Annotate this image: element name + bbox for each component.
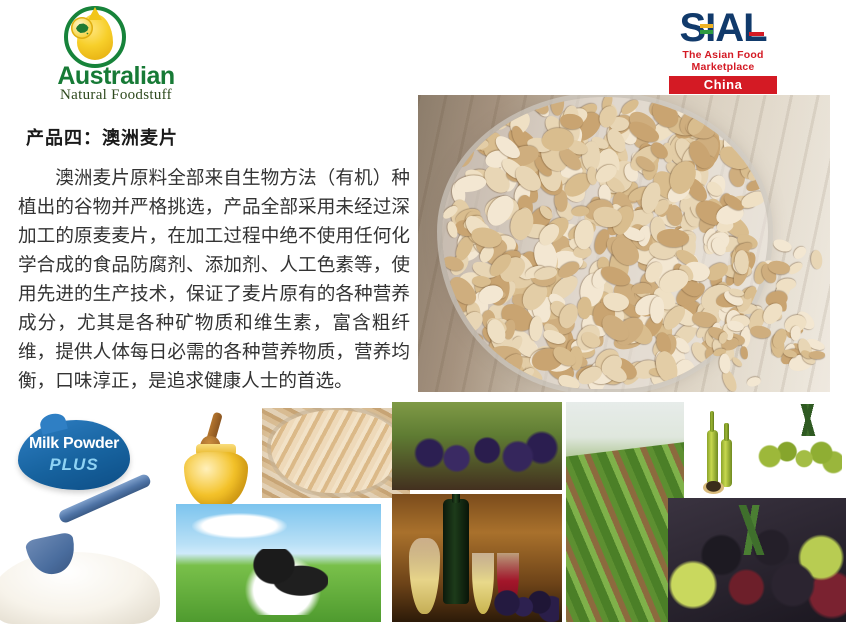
tile-milk-powder-scoop xyxy=(0,506,170,624)
sial-china-logo: SIAL The Asian Food Marketplace China xyxy=(652,8,794,80)
brand-tagline: Natural Foodstuff xyxy=(16,88,216,103)
australia-droplet-icon xyxy=(64,6,126,68)
product-description: 澳洲麦片原料全部来自生物方法（有机）种植出的谷物并严格挑选，产品全部采用未经过深… xyxy=(18,164,410,396)
honey-jar-body xyxy=(184,452,248,508)
olive-oil-bottle-short xyxy=(721,439,732,487)
milk-powder-logo-line1: Milk Powder xyxy=(18,436,130,452)
wine-carafe xyxy=(409,538,440,615)
tile-olive-oil-bottles xyxy=(688,406,750,498)
tile-honey-jar xyxy=(178,416,254,512)
dark-grapes-cluster xyxy=(494,584,559,622)
product-copy: 产品四：澳洲麦片 澳洲麦片原料全部来自生物方法（有机）种植出的谷物并严格挑选，产… xyxy=(18,128,410,396)
tile-dairy-cows xyxy=(176,504,381,622)
company-logo: Australian Natural Foodstuff xyxy=(16,4,216,104)
tile-wine-bottle-glasses xyxy=(392,494,562,622)
sial-accent-yellow-icon xyxy=(700,24,713,28)
tile-wine-grapes-vine xyxy=(392,402,562,490)
tile-green-olives xyxy=(752,402,846,496)
sial-accent-green-icon xyxy=(700,30,713,34)
sial-wordmark: SIAL xyxy=(652,8,794,48)
wine-bottle xyxy=(443,499,469,604)
olive-dish xyxy=(703,481,724,494)
sial-wordmark-text: SIAL xyxy=(679,6,766,50)
hero-image-oats-bowl xyxy=(418,95,830,392)
tile-vineyard-rows xyxy=(566,402,684,622)
tile-oats-bowl xyxy=(262,408,410,498)
sial-tagline: The Asian Food Marketplace xyxy=(652,49,794,73)
milk-powder-plus-logo: Milk Powder PLUS xyxy=(18,420,130,490)
product-mosaic-strip: Milk Powder PLUS xyxy=(0,398,846,625)
sial-accent-red-icon xyxy=(749,32,764,36)
australia-map-icon xyxy=(75,22,90,35)
slide-canvas: Australian Natural Foodstuff SIAL The As… xyxy=(0,0,846,625)
hero-spilled-oats xyxy=(708,238,828,388)
sial-region-banner: China xyxy=(669,76,777,94)
milk-powder-heap xyxy=(0,552,160,624)
brand-name: Australian xyxy=(16,64,216,89)
page-title: 产品四：澳洲麦片 xyxy=(26,128,410,150)
olive-oil-bottle-tall xyxy=(707,430,718,487)
white-wine-glass xyxy=(472,553,494,614)
tile-mixed-olives xyxy=(668,498,846,622)
milk-powder-logo-line2: PLUS xyxy=(18,456,130,473)
